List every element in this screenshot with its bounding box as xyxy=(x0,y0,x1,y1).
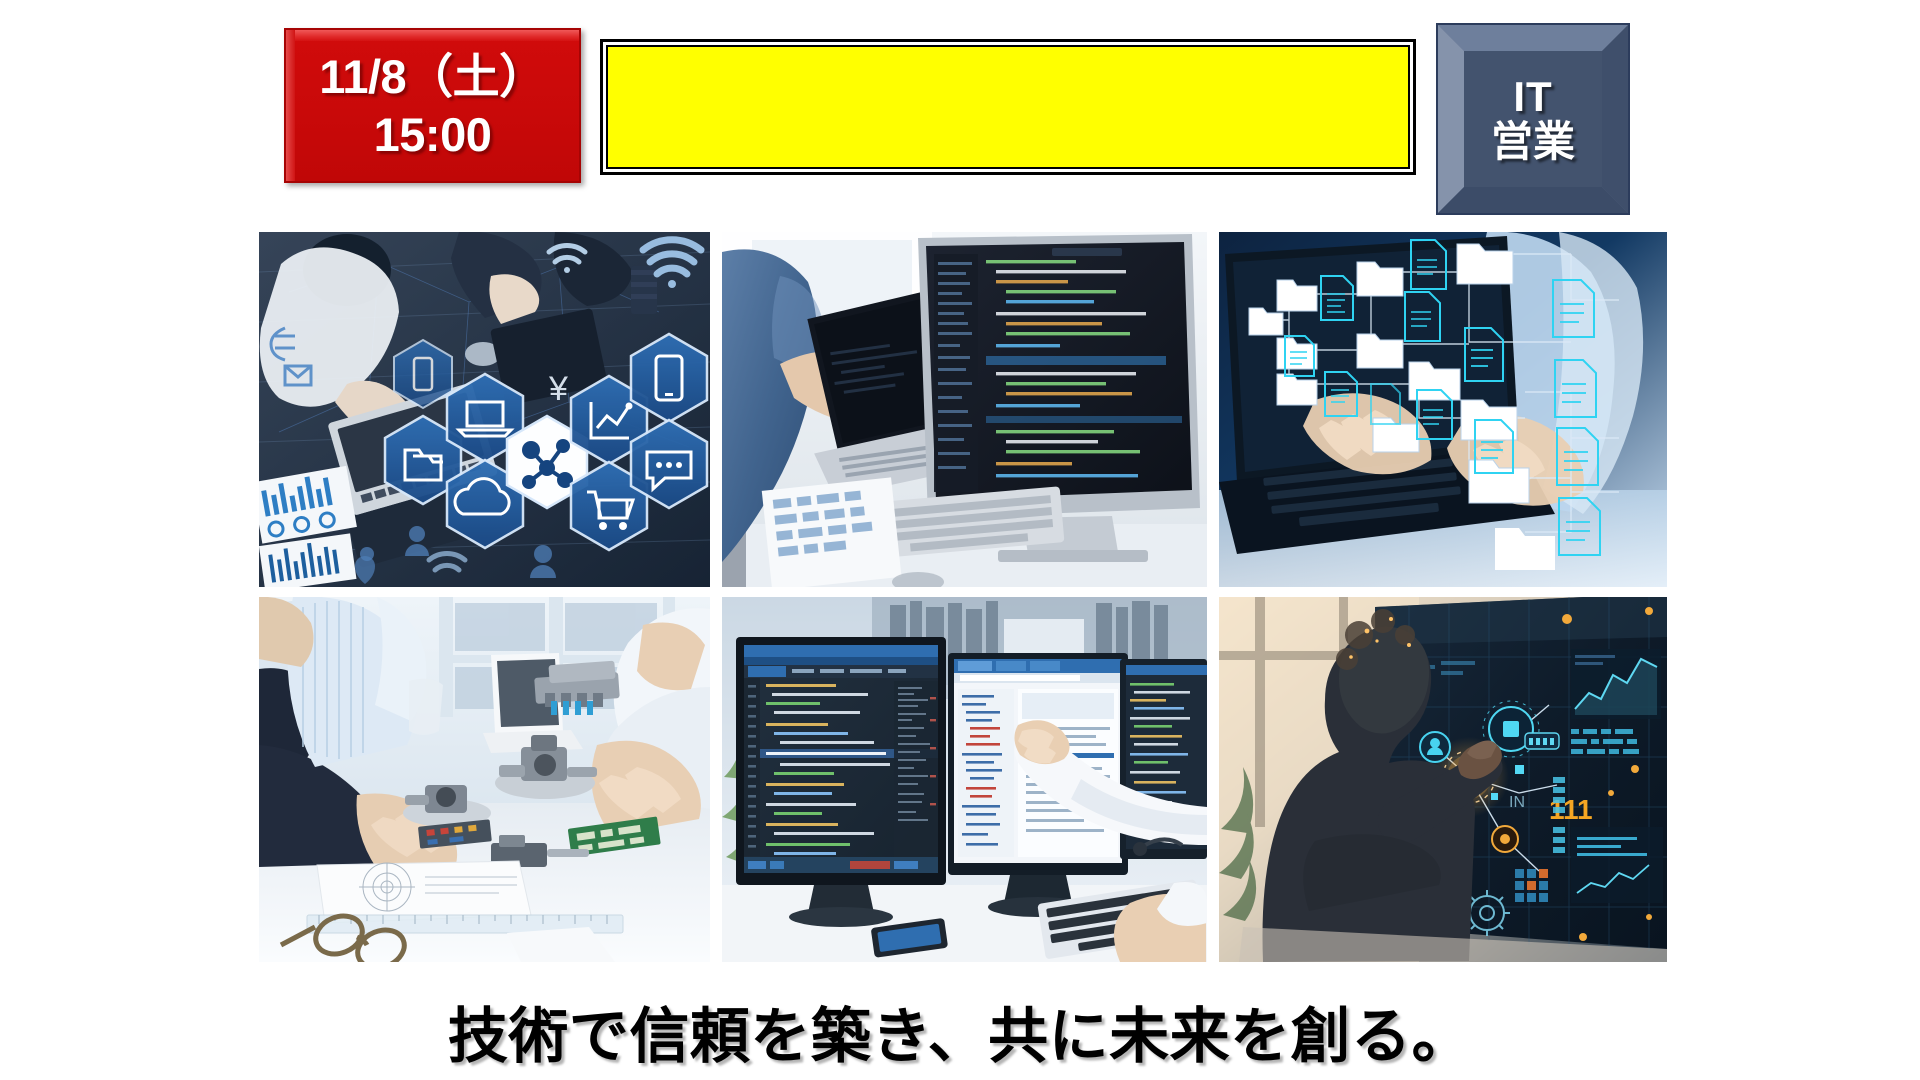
photo-cell-4[interactable] xyxy=(253,593,716,968)
slide-caption: 技術で信頼を築き、共に未来を創る。 xyxy=(0,988,1920,1075)
svg-text:¥: ¥ xyxy=(548,370,568,408)
department-label-line2: 営業 xyxy=(1491,119,1575,164)
event-date-line1: 11/8（土） xyxy=(319,48,545,105)
bevel-left xyxy=(1438,25,1464,213)
slide-root: 11/8（土） 15:00 IT 営業 xyxy=(0,0,1920,1080)
photo-cell-2[interactable] xyxy=(716,228,1213,593)
photo-engineers-circuit-boards xyxy=(259,597,710,962)
photo-holographic-dashboard: 111 IN xyxy=(1219,597,1667,962)
bevel-right xyxy=(1602,25,1628,213)
title-placeholder-plate[interactable] xyxy=(600,39,1416,175)
photo-cell-5[interactable] xyxy=(716,593,1213,968)
photo-developer-imac-code xyxy=(722,232,1207,587)
event-date-line2: 15:00 xyxy=(374,106,492,163)
photo-file-tree-hologram xyxy=(1219,232,1667,587)
photo-hexagon-tech-icons: ¥ xyxy=(259,232,710,587)
department-badge[interactable]: IT 営業 xyxy=(1436,23,1630,215)
photo-cell-3[interactable] xyxy=(1213,228,1673,593)
header-bar: 11/8（土） 15:00 IT 営業 xyxy=(0,0,1920,215)
photo-grid: ¥ xyxy=(253,228,1673,968)
photo-dual-monitor-code xyxy=(722,597,1207,962)
department-badge-face: IT 営業 xyxy=(1464,51,1602,187)
bevel-bottom xyxy=(1438,187,1628,213)
photo-cell-1[interactable]: ¥ xyxy=(253,228,716,593)
bevel-top xyxy=(1438,25,1628,51)
department-label-line1: IT xyxy=(1513,74,1552,119)
photo-cell-6[interactable]: 111 IN xyxy=(1213,593,1673,968)
title-placeholder-inner xyxy=(606,45,1410,169)
event-date-badge[interactable]: 11/8（土） 15:00 xyxy=(284,28,581,183)
svg-text:IN: IN xyxy=(1509,794,1525,811)
